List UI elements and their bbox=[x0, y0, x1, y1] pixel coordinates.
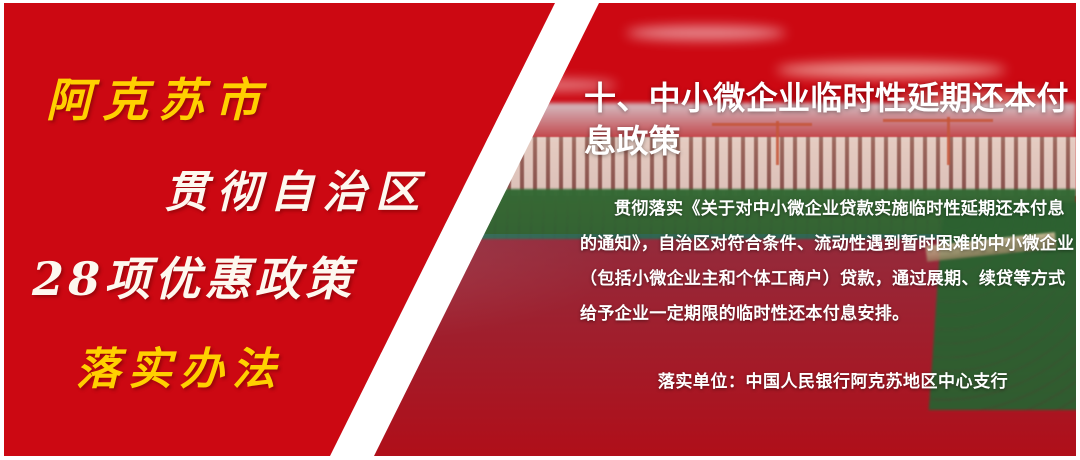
left-title-line-2: 贯彻自治区 bbox=[164, 171, 428, 215]
left-title-line-4: 落实办法 bbox=[76, 348, 284, 392]
banner-artwork: 阿克苏市 贯彻自治区 28项优惠政策 落实办法 十、中小微企业临时性延期还本付息… bbox=[4, 3, 1076, 456]
responsible-unit-text: 落实单位：中国人民银行阿克苏地区中心支行 bbox=[598, 367, 1068, 392]
policy-banner: 阿克苏市 贯彻自治区 28项优惠政策 落实办法 十、中小微企业临时性延期还本付息… bbox=[0, 0, 1080, 460]
left-title-block: 阿克苏市 贯彻自治区 28项优惠政策 落实办法 bbox=[4, 3, 474, 456]
left-title-line-3: 28项优惠政策 bbox=[32, 256, 355, 302]
right-content-block: 十、中小微企业临时性延期还本付息政策 贯彻落实《关于对中小微企业贷款实施临时性延… bbox=[570, 3, 1076, 456]
policy-headline: 十、中小微企业临时性延期还本付息政策 bbox=[584, 77, 1074, 163]
left-title-line-1: 阿克苏市 bbox=[46, 77, 270, 123]
policy-body-text: 贯彻落实《关于对中小微企业贷款实施临时性延期还本付息的通知》，自治区对符合条件、… bbox=[580, 191, 1076, 331]
